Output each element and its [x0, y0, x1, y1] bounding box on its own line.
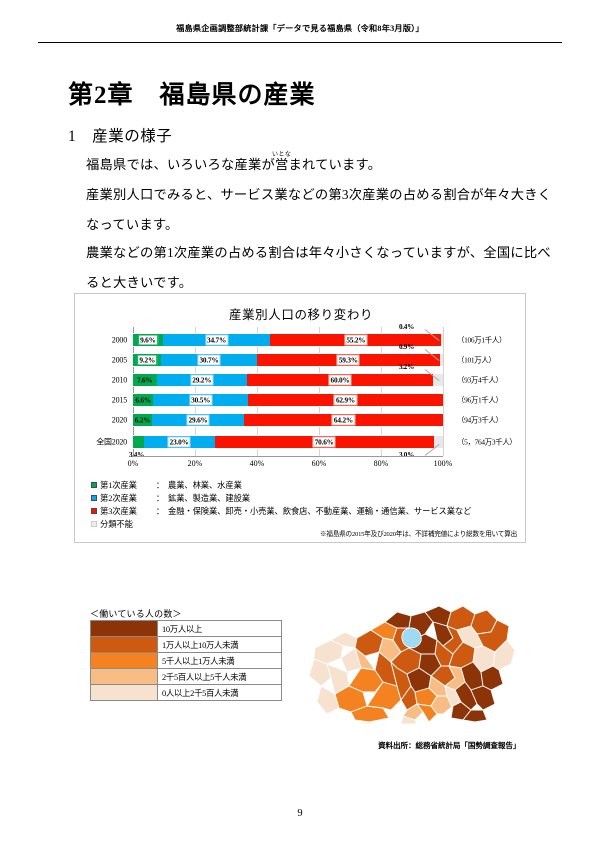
legend-item-name: 第1次産業: [100, 479, 152, 491]
map-legend-swatch: [91, 669, 158, 684]
bar-segment: 6.2%: [133, 413, 152, 427]
map-legend-row: 1万人以上10万人未満: [91, 637, 281, 653]
bar-segment-callout: 3.2%: [399, 363, 414, 371]
map-source-note: 資料出所：総務省統計局「国勢調査報告」: [378, 740, 520, 751]
bar-segment-label: 9.6%: [138, 335, 158, 346]
bar-total-label: （101万人）: [457, 355, 496, 366]
header-divider: [38, 42, 562, 43]
bar-segment: 60.0%: [247, 373, 433, 387]
legend-color-swatch: [91, 495, 97, 501]
document-page: 福島県企画調整部統計課「データで見る福島県（令和8年3月版）」 第2章 福島県の…: [0, 0, 600, 848]
map-legend-swatch: [91, 637, 158, 652]
bar-segment-label: 23.0%: [168, 437, 191, 448]
chart-plot-area: 20009.6%34.7%55.2%（106万1千人）20059.2%30.7%…: [133, 327, 443, 456]
bar-total-label: （5，764万3千人）: [457, 437, 517, 448]
bar-segment-label: 59.3%: [337, 355, 360, 366]
bar-segment: [440, 353, 443, 367]
paragraph-1-text-before: 福島県では、いろいろな産業が: [86, 157, 275, 172]
bar-segment-label: 7.6%: [136, 376, 154, 385]
bar-segment-label: 6.2%: [134, 416, 152, 425]
chart-bar-row: 20009.6%34.7%55.2%（106万1千人）: [133, 333, 443, 347]
bar-segment: 7.6%: [133, 373, 157, 387]
bar-total-label: （93万4千人）: [457, 375, 503, 386]
chart-title: 産業別人口の移り変わり: [75, 304, 527, 323]
bar-segment: 9.2%: [133, 353, 161, 367]
map-legend-swatch: [91, 653, 158, 668]
map-legend-label: 5千人以上1万人未満: [158, 653, 281, 668]
chart-footnote: ※福島県の2015年及び2020年は、不詳補完値により総数を用いて算出: [320, 528, 517, 538]
bar-total-label: （94万3千人）: [457, 415, 503, 426]
bar-total-label: （106万1千人）: [457, 335, 506, 346]
chart-bar-row: 20156.6%30.5%62.9%（96万1千人）: [133, 393, 443, 407]
map-legend-label: 0人以上2千5百人未満: [158, 685, 281, 700]
legend-item-name: 第2次産業: [100, 492, 152, 504]
x-axis-tick-label: 60%: [312, 459, 327, 468]
bar-segment-callout-left: 3.4%: [129, 451, 144, 459]
bar-segment-callout: 0.9%: [399, 343, 414, 351]
bar-category-label: 2020: [112, 416, 127, 425]
ruby-reading: いとな: [272, 140, 291, 170]
bar-segment-label: 62.9%: [334, 395, 357, 406]
chart-gridline: [443, 327, 444, 456]
x-axis-tick-label: 80%: [374, 459, 389, 468]
legend-item-description: 農業、林業、水産業: [168, 479, 242, 491]
bar-segment-label: 29.2%: [190, 375, 213, 386]
bar-segment-label: 55.2%: [344, 335, 367, 346]
map-legend: 10万人以上1万人以上10万人未満5千人以上1万人未満2千5百人以上5千人未満0…: [90, 620, 282, 701]
bar-segment-label: 9.2%: [137, 355, 157, 366]
bar-total-label: （96万1千人）: [457, 395, 503, 406]
bar-segment: 9.6%: [133, 333, 163, 347]
map-legend-swatch: [91, 621, 158, 636]
map-regions: [309, 606, 515, 724]
running-header: 福島県企画調整部統計課「データで見る福島県（令和8年3月版）」: [0, 22, 600, 34]
map-legend-title: ＜働いている人の数＞: [90, 607, 182, 620]
bar-segment: [441, 333, 442, 347]
bar-category-label: 2005: [112, 356, 127, 365]
bar-segment: 23.0%: [144, 435, 215, 449]
legend-item-description: 鉱業、製造業、建設業: [168, 492, 250, 504]
legend-item-separator: ：: [152, 505, 168, 517]
chart-legend-item: 第2次産業：鉱業、製造業、建設業: [91, 491, 521, 504]
bar-segment-label: 64.2%: [332, 415, 355, 426]
paragraph-1-text-after: まれています。: [288, 157, 381, 172]
paragraph-2: 産業別人口でみると、サービス業などの第3次産業の占める割合が年々大きくなっていま…: [72, 180, 556, 240]
bar-segment-label: 29.6%: [187, 415, 210, 426]
chart-bar-row: 20206.2%29.6%64.2%（94万3千人）: [133, 413, 443, 427]
map-legend-row: 10万人以上: [91, 621, 281, 637]
legend-item-separator: ：: [152, 492, 168, 504]
map-legend-label: 1万人以上10万人未満: [158, 637, 281, 652]
chart-legend-item: 第1次産業：農業、林業、水産業: [91, 478, 521, 491]
bar-category-label: 2010: [112, 376, 127, 385]
map-legend-swatch: [91, 685, 158, 700]
legend-color-swatch: [91, 482, 97, 488]
bar-segment-label: 60.0%: [329, 375, 352, 386]
industry-population-chart: 産業別人口の移り変わり 20009.6%34.7%55.2%（106万1千人）2…: [74, 293, 526, 543]
map-legend-label: 10万人以上: [158, 621, 281, 636]
bar-segment: 30.5%: [153, 393, 248, 407]
legend-item-name: 第3次産業: [100, 505, 152, 517]
x-axis-tick-label: 0%: [128, 459, 139, 468]
bar-segment: 34.7%: [163, 333, 271, 347]
bar-segment-label: 30.7%: [197, 355, 220, 366]
bar-segment: 55.2%: [270, 333, 441, 347]
chart-legend: 第1次産業：農業、林業、水産業第2次産業：鉱業、製造業、建設業第3次産業：金融・…: [91, 478, 521, 530]
bar-category-label: 全国2020: [96, 437, 127, 448]
chart-bar-row: 20059.2%30.7%59.3%（101万人）: [133, 353, 443, 367]
x-axis-tick-label: 40%: [250, 459, 265, 468]
bar-segment-label: 34.7%: [205, 335, 228, 346]
bar-segment: 29.6%: [152, 413, 244, 427]
chart-legend-item: 第3次産業：金融・保険業、卸売・小売業、飲食店、不動産業、運輸・通信業、サービス…: [91, 504, 521, 517]
bar-segment: 62.9%: [248, 393, 443, 407]
chapter-title: 第2章 福島県の産業: [68, 75, 316, 111]
bar-category-label: 2015: [112, 396, 127, 405]
paragraph-3: 農業などの第1次産業の占める割合は年々小さくなっていますが、全国に比べると大きい…: [72, 238, 556, 298]
legend-item-name: 分類不能: [100, 518, 152, 530]
x-axis-tick-label: 100%: [434, 459, 453, 468]
bar-segment-label: 70.6%: [313, 437, 336, 448]
x-axis-line: [133, 456, 443, 457]
bar-category-label: 2000: [112, 336, 127, 345]
legend-item-separator: ：: [152, 479, 168, 491]
fukushima-municipality-map: [305, 596, 520, 724]
bar-segment-label: 6.6%: [134, 396, 152, 405]
chart-bar-row: 全国202023.0%70.6%（5，764万3千人）: [133, 435, 443, 449]
map-legend-row: 0人以上2千5百人未満: [91, 685, 281, 701]
bar-segment: [133, 435, 144, 449]
chart-bar-row: 20107.6%29.2%60.0%（93万4千人）: [133, 373, 443, 387]
legend-item-description: 金融・保険業、卸売・小売業、飲食店、不動産業、運輸・通信業、サービス業など: [168, 505, 471, 517]
map-legend-label: 2千5百人以上5千人未満: [158, 669, 281, 684]
bar-segment-label: 30.5%: [189, 395, 212, 406]
map-legend-row: 5千人以上1万人未満: [91, 653, 281, 669]
paragraph-1: 福島県では、いろいろな産業がいとな営まれています。: [72, 150, 556, 180]
bar-segment: 70.6%: [215, 435, 434, 449]
bar-segment: 30.7%: [161, 353, 256, 367]
bar-segment-callout: 0.4%: [399, 323, 414, 331]
map-legend-row: 2千5百人以上5千人未満: [91, 669, 281, 685]
page-number: 9: [0, 808, 600, 819]
x-axis-tick-label: 20%: [188, 459, 203, 468]
bar-segment-callout: 3.0%: [399, 451, 414, 459]
lake-inawashiro: [402, 628, 421, 648]
legend-color-swatch: [91, 521, 97, 527]
bar-segment: 64.2%: [244, 413, 443, 427]
map-svg: [305, 596, 520, 724]
ruby-annotation: いとな営: [275, 150, 289, 180]
section-title: 1 産業の様子: [68, 124, 172, 146]
legend-color-swatch: [91, 508, 97, 514]
bar-segment: 6.6%: [133, 393, 153, 407]
bar-segment: 29.2%: [157, 373, 248, 387]
